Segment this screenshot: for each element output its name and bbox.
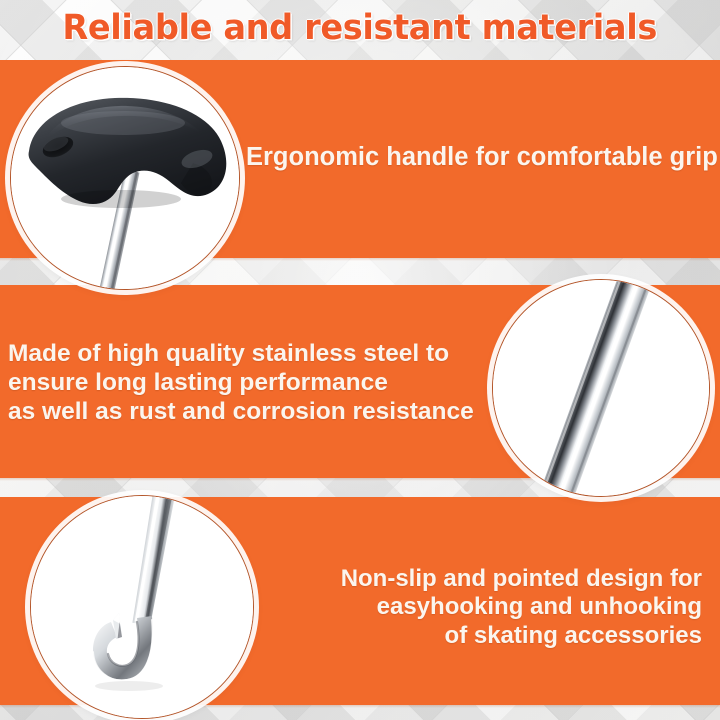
feature-2-line-3: as well as rust and corrosion resistance <box>8 398 488 427</box>
steel-shaft-illustration <box>493 280 709 496</box>
stainless-steel-shaft-photo <box>492 279 710 497</box>
pointed-hook-photo <box>30 495 254 719</box>
ergonomic-handle-photo <box>10 66 240 290</box>
feature-3-line-3: of skating accessories <box>292 622 702 650</box>
page-title: Reliable and resistant materials <box>63 8 658 48</box>
product-infographic: Reliable and resistant materials <box>0 0 720 720</box>
feature-1-text: Ergonomic handle for comfortable grip <box>246 142 716 172</box>
feature-3-line-2: easyhooking and unhooking <box>292 593 702 621</box>
feature-3-line-1: Non-slip and pointed design for <box>292 565 702 593</box>
hook-illustration <box>31 496 253 718</box>
handle-illustration <box>11 67 239 289</box>
feature-2-text: Made of high quality stainless steel to … <box>8 340 488 427</box>
feature-2-line-2: ensure long lasting performance <box>8 369 488 398</box>
feature-3-text: Non-slip and pointed design for easyhook… <box>292 565 702 650</box>
feature-1-line-1: Ergonomic handle for comfortable grip <box>246 142 716 172</box>
feature-2-line-1: Made of high quality stainless steel to <box>8 340 488 369</box>
header: Reliable and resistant materials <box>0 2 720 54</box>
